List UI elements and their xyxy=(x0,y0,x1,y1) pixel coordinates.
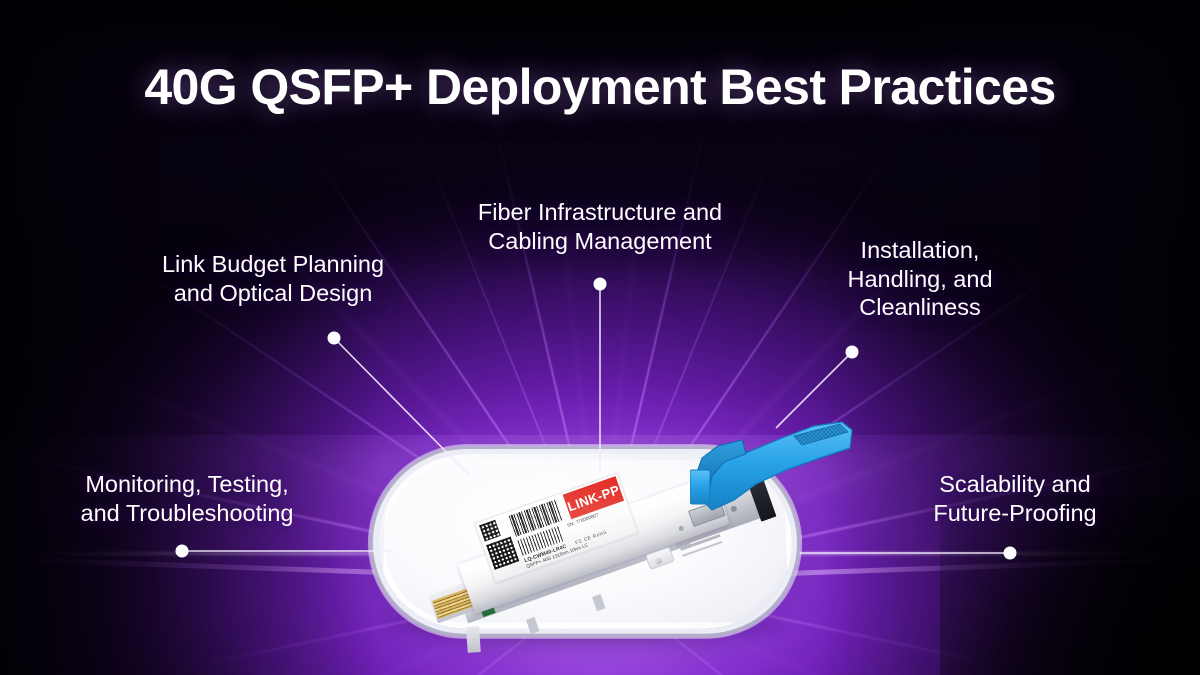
module-standoff-1 xyxy=(526,617,539,634)
brand-logo-text: LINK-PP xyxy=(566,483,621,513)
datamatrix-icon xyxy=(479,520,501,542)
callout-label-link-budget: Link Budget Planning and Optical Design xyxy=(128,250,418,307)
qr-code-icon xyxy=(486,537,519,570)
label-certifications: FC CE RoHS xyxy=(575,529,609,546)
callout-label-fiber: Fiber Infrastructure and Cabling Managem… xyxy=(440,198,760,255)
pull-tab-handle xyxy=(690,418,860,518)
callout-label-monitoring: Monitoring, Testing, and Troubleshooting xyxy=(42,470,332,527)
page-title: 40G QSFP+ Deployment Best Practices xyxy=(0,58,1200,116)
callout-label-scalability: Scalability and Future-Proofing xyxy=(900,470,1130,527)
callout-label-installation: Installation, Handling, and Cleanliness xyxy=(812,236,1028,322)
slide-canvas: LINK-PP LQ-CWM40-LR4C QSFP+ 40G 1310nm 1… xyxy=(0,0,1200,675)
pull-tab-base xyxy=(690,470,710,504)
module-foot xyxy=(466,626,481,653)
module-standoff-2 xyxy=(592,594,605,611)
